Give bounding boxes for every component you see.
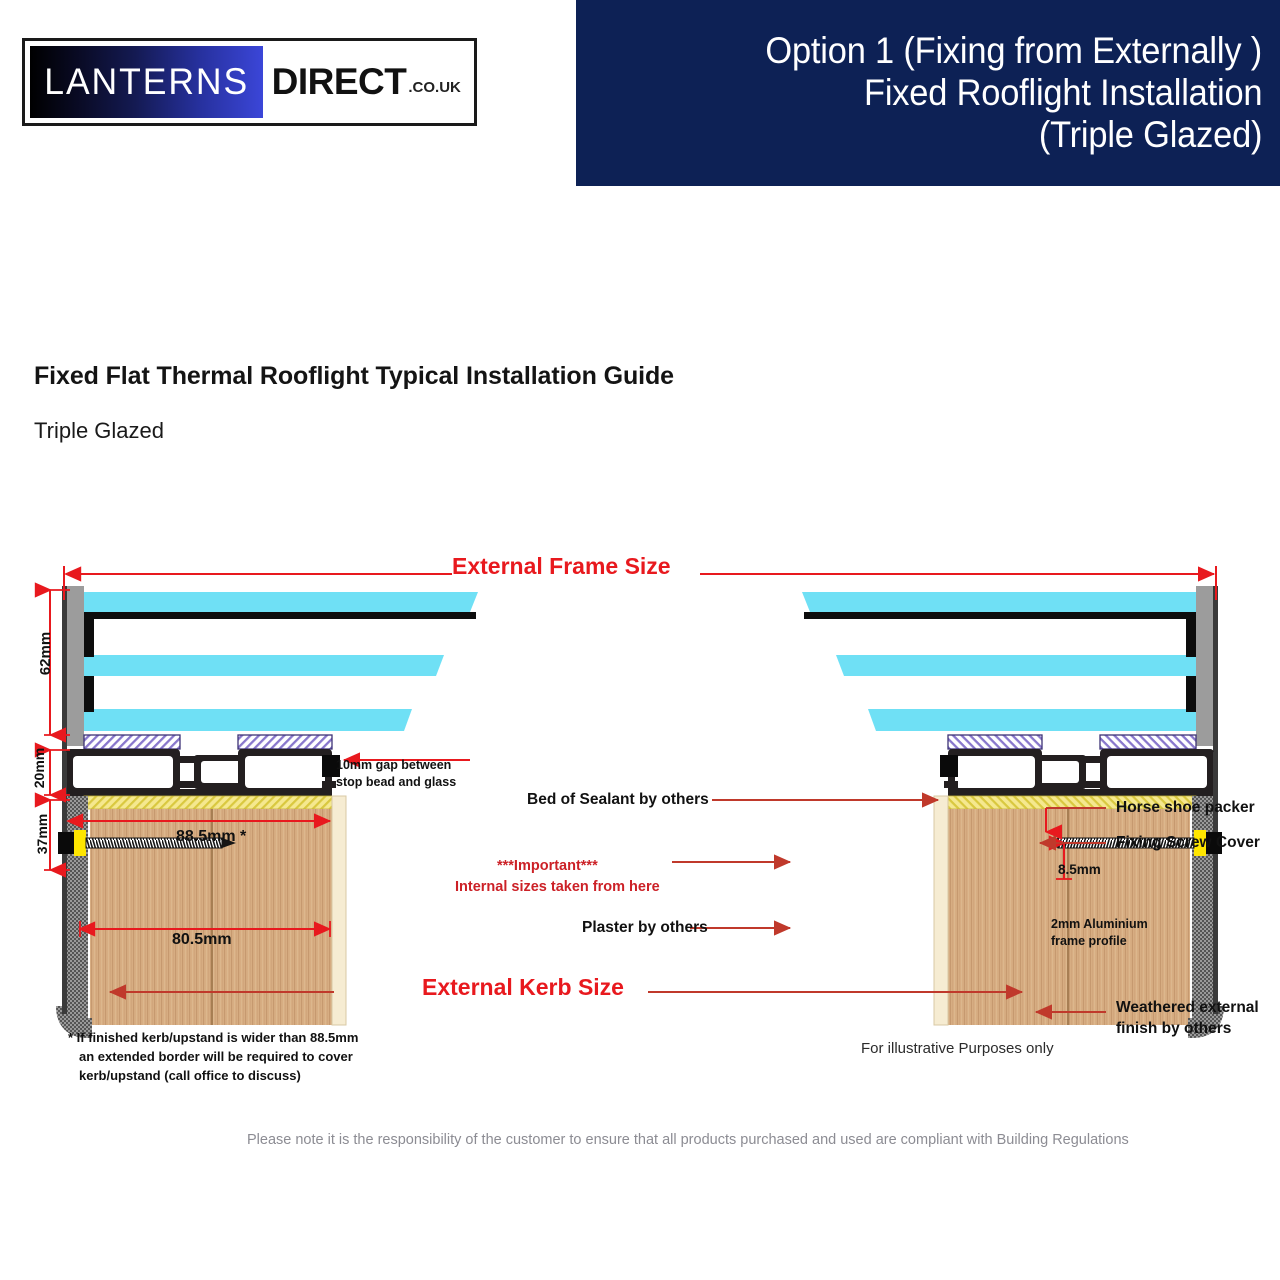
label-dim-20mm: 20mm [31, 748, 47, 788]
callout-aluminium-line2: frame profile [1051, 933, 1148, 950]
illustrative-purposes-note: For illustrative Purposes only [861, 1040, 1054, 1057]
kerb-footnote-line2: an extended border will be required to c… [68, 1048, 398, 1067]
callout-weathered-line2: finish by others [1116, 1019, 1259, 1040]
label-external-kerb-size: External Kerb Size [422, 974, 624, 1001]
left-aluminium-frame-profile [66, 749, 336, 796]
spacer-bar-upper-horizontal [84, 612, 476, 619]
right-frame-outer-face [1196, 586, 1214, 746]
label-dim-62mm: 62mm [37, 632, 54, 675]
left-section-assembly [58, 586, 478, 1028]
thermal-break-outer [84, 735, 180, 749]
left-thermal-break [84, 735, 332, 749]
left-bed-of-sealant [84, 796, 332, 809]
left-frame-outer-face [66, 586, 84, 746]
spacer-bar-lower-vertical [84, 676, 94, 712]
thermal-break-inner [238, 735, 332, 749]
right-stop-bead [940, 755, 958, 777]
frame-chamber-inner-void [245, 756, 325, 788]
glass-pane-outer [84, 592, 478, 612]
kerb-footnote-line1: * If finished kerb/upstand is wider than… [68, 1029, 398, 1048]
kerb-footnote: * If finished kerb/upstand is wider than… [68, 1029, 398, 1086]
callout-weathered-external-finish: Weathered external finish by others [1116, 998, 1259, 1039]
glass-pane-inner [84, 709, 412, 731]
callout-horse-shoe-packer: Horse shoe packer [1116, 799, 1255, 817]
label-dim-88-5mm: 88.5mm * [176, 828, 246, 846]
installation-cross-section-drawing [0, 0, 1280, 1280]
right-aluminium-frame-profile [944, 749, 1214, 796]
right-thermal-break [948, 735, 1196, 749]
glass-pane-outer [802, 592, 1196, 612]
right-plaster-finish [934, 796, 948, 1025]
left-frame-outer-edge [62, 586, 67, 752]
frame-chamber-outer-void [73, 756, 173, 788]
callout-bed-of-sealant: Bed of Sealant by others [527, 791, 709, 809]
left-fixing-screw-cover [58, 832, 74, 854]
label-dim-8-5mm: 8.5mm [1058, 861, 1101, 879]
callout-10mm-gap-line2: stop bead and glass [336, 774, 456, 791]
kerb-footnote-line3: kerb/upstand (call office to discuss) [68, 1067, 398, 1086]
left-plaster-finish [332, 796, 346, 1025]
glass-pane-inner [868, 709, 1196, 731]
callout-plaster-by-others: Plaster by others [582, 919, 708, 937]
left-horse-shoe-packer [74, 830, 86, 856]
glass-pane-middle [84, 655, 444, 676]
glass-pane-middle [836, 655, 1196, 676]
callout-10mm-gap-line1: 10mm gap between [336, 757, 456, 774]
callout-weathered-line1: Weathered external [1116, 998, 1259, 1019]
footer-disclaimer: Please note it is the responsibility of … [247, 1132, 1129, 1148]
right-frame-outer-edge [1213, 586, 1218, 752]
frame-base-rail [66, 789, 332, 796]
callout-10mm-gap: 10mm gap between stop bead and glass [336, 757, 456, 790]
label-dim-80-5mm: 80.5mm [172, 931, 232, 949]
left-outer-edge-line [62, 752, 67, 1014]
callout-aluminium-frame-profile: 2mm Aluminium frame profile [1051, 916, 1148, 949]
callout-aluminium-line1: 2mm Aluminium [1051, 916, 1148, 933]
label-dim-37mm: 37mm [34, 814, 50, 854]
spacer-bar-upper-vertical [84, 612, 94, 657]
callout-important-line1: ***Important*** [497, 858, 598, 874]
label-external-frame-size: External Frame Size [452, 553, 671, 580]
callout-important-line2: Internal sizes taken from here [455, 879, 660, 895]
callout-fixing-screw-cover: Fixing Screw Cover [1116, 834, 1260, 852]
